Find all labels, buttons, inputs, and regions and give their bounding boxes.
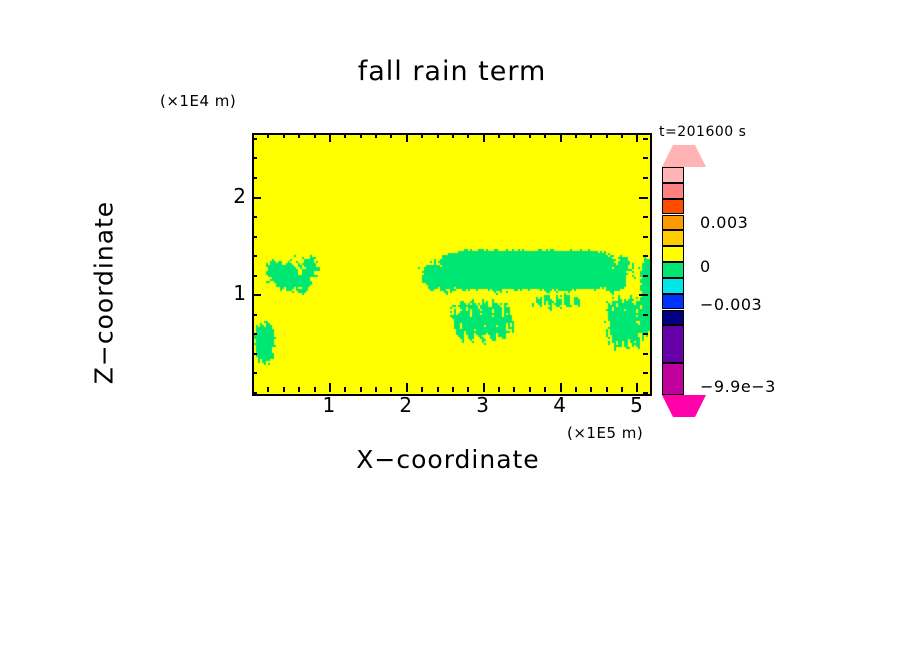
axis-tick (452, 133, 454, 138)
axis-tick (360, 387, 362, 392)
axis-tick (513, 133, 515, 138)
page-title: fall rain term (0, 56, 904, 87)
colorbar-arrow-bottom-icon (662, 395, 706, 417)
axis-tick (498, 387, 500, 392)
y-axis-unit-label: (×1E4 m) (160, 92, 236, 110)
axis-tick (643, 333, 648, 335)
axis-tick (252, 314, 257, 316)
axis-tick (406, 383, 408, 392)
axis-tick (606, 387, 608, 392)
axis-tick (283, 133, 285, 138)
axis-tick (621, 387, 623, 392)
x-tick-label: 2 (386, 393, 426, 417)
axis-tick (283, 387, 285, 392)
axis-tick (483, 133, 485, 142)
colorbar-segment (662, 262, 684, 278)
axis-tick (643, 255, 648, 257)
x-axis-unit-label: (×1E5 m) (567, 424, 643, 442)
axis-tick (437, 387, 439, 392)
axis-tick (639, 294, 648, 296)
axis-tick (529, 133, 531, 138)
heatmap-field (254, 135, 650, 394)
colorbar-segment (662, 294, 684, 310)
x-tick-label: 4 (540, 393, 580, 417)
axis-tick (252, 333, 257, 335)
axis-tick (390, 387, 392, 392)
axis-tick (329, 133, 331, 142)
colorbar-arrow-top-icon (662, 145, 706, 167)
axis-tick (636, 383, 638, 392)
y-tick-label: 1 (206, 281, 246, 305)
colorbar-segment (662, 199, 684, 215)
axis-tick (375, 387, 377, 392)
axis-tick (252, 353, 257, 355)
x-tick-label: 3 (463, 393, 503, 417)
axis-tick (314, 387, 316, 392)
colorbar-tick-label: 0 (700, 257, 711, 276)
colorbar-segment (662, 230, 684, 246)
axis-tick (483, 383, 485, 392)
axis-tick (252, 216, 257, 218)
x-axis-title: X−coordinate (248, 445, 648, 474)
axis-tick (344, 133, 346, 138)
figure-canvas: fall rain term (×1E4 m) (×1E5 m) t=20160… (0, 0, 904, 654)
axis-tick (406, 133, 408, 142)
axis-tick (575, 133, 577, 138)
time-annotation: t=201600 s (659, 124, 746, 140)
axis-tick (643, 353, 648, 355)
axis-tick (421, 387, 423, 392)
axis-tick (344, 387, 346, 392)
axis-tick (329, 383, 331, 392)
axis-tick (252, 275, 257, 277)
axis-tick (643, 216, 648, 218)
colorbar-segment (662, 167, 684, 183)
axis-tick (390, 133, 392, 138)
axis-tick (643, 138, 648, 140)
colorbar-segment (662, 246, 684, 262)
x-tick-label: 1 (309, 393, 349, 417)
axis-tick (606, 133, 608, 138)
plot-area (252, 133, 652, 396)
axis-tick (643, 157, 648, 159)
axis-tick (267, 387, 269, 392)
x-tick-label: 5 (616, 393, 656, 417)
axis-tick (375, 133, 377, 138)
colorbar-tick-label: 0.003 (700, 213, 748, 232)
axis-tick (560, 383, 562, 392)
axis-tick (544, 387, 546, 392)
axis-tick (643, 372, 648, 374)
axis-tick (452, 387, 454, 392)
colorbar-segment (662, 183, 684, 199)
axis-tick (636, 133, 638, 142)
colorbar (662, 167, 684, 395)
axis-tick (298, 387, 300, 392)
axis-tick (252, 177, 257, 179)
axis-tick (575, 387, 577, 392)
axis-tick (421, 133, 423, 138)
axis-tick (360, 133, 362, 138)
y-tick-label: 2 (206, 184, 246, 208)
axis-tick (252, 197, 261, 199)
colorbar-segment (662, 215, 684, 231)
colorbar-tick-label: −9.9e−3 (700, 377, 776, 396)
axis-tick (643, 177, 648, 179)
colorbar-tick-label: −0.003 (700, 295, 762, 314)
axis-tick (252, 294, 261, 296)
colorbar-segment (662, 363, 684, 395)
axis-tick (252, 255, 257, 257)
axis-tick (252, 157, 257, 159)
axis-tick (643, 314, 648, 316)
axis-tick (298, 133, 300, 138)
axis-tick (643, 236, 648, 238)
axis-tick (621, 133, 623, 138)
colorbar-segment (662, 325, 684, 363)
axis-tick (252, 392, 257, 394)
axis-tick (467, 133, 469, 138)
colorbar-segment (662, 278, 684, 294)
axis-tick (590, 387, 592, 392)
axis-tick (467, 387, 469, 392)
axis-tick (498, 133, 500, 138)
axis-tick (252, 372, 257, 374)
axis-tick (544, 133, 546, 138)
axis-tick (590, 133, 592, 138)
axis-tick (513, 387, 515, 392)
colorbar-segment (662, 310, 684, 326)
axis-tick (252, 138, 257, 140)
axis-tick (252, 236, 257, 238)
axis-tick (314, 133, 316, 138)
y-axis-title: Z−coordinate (90, 173, 119, 413)
axis-tick (560, 133, 562, 142)
axis-tick (437, 133, 439, 138)
axis-tick (639, 197, 648, 199)
axis-tick (529, 387, 531, 392)
axis-tick (267, 133, 269, 138)
axis-tick (643, 275, 648, 277)
